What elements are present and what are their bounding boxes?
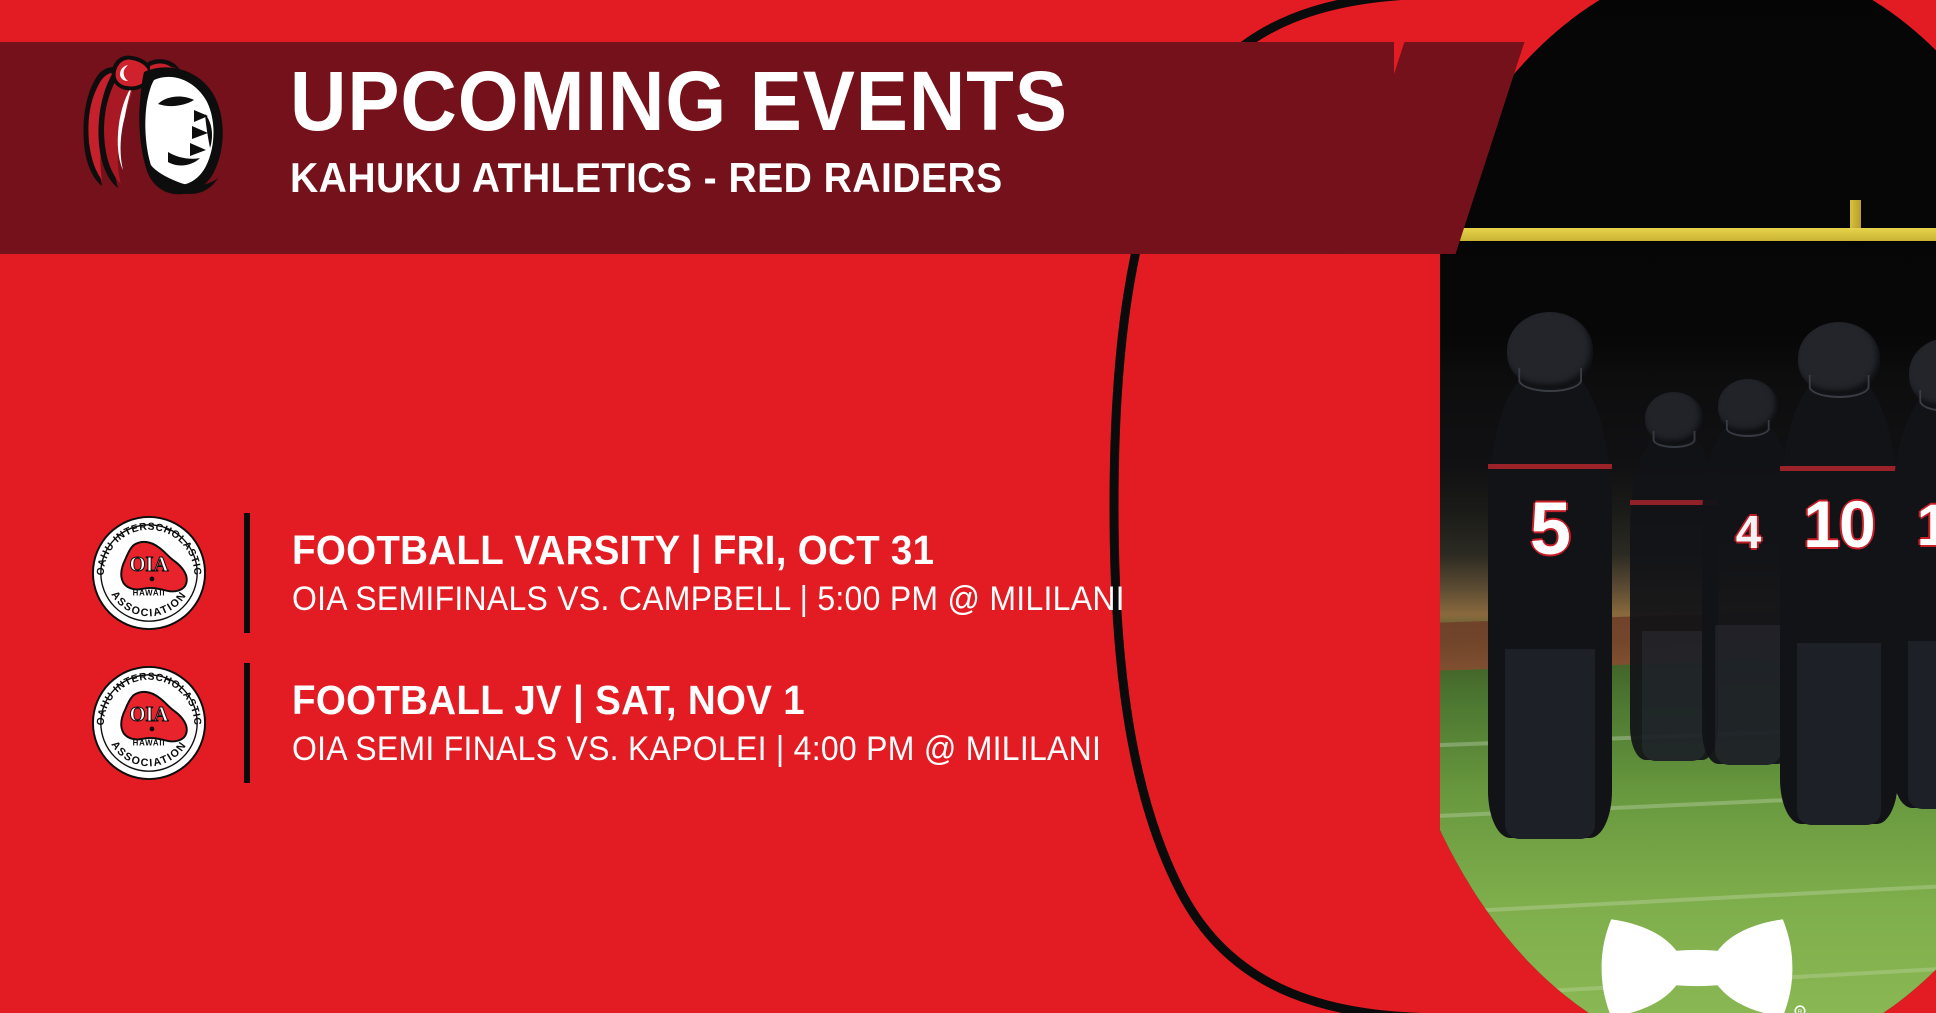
helmet-icon (1718, 379, 1778, 433)
oia-acronym: OIA (130, 554, 169, 576)
jersey-number: 5 (1530, 486, 1570, 571)
event-text-block: FOOTBALL JV | SAT, NOV 1 OIA SEMI FINALS… (292, 677, 1270, 769)
helmet-icon (1909, 338, 1936, 408)
helmet-icon (1645, 392, 1703, 444)
event-divider-bar (244, 663, 250, 783)
kahuku-red-raider-logo (62, 48, 242, 196)
event-title: FOOTBALL JV | SAT, NOV 1 (292, 677, 1211, 723)
jersey-number: 10 (1803, 486, 1874, 562)
header-text-block: UPCOMING EVENTS KAHUKU ATHLETICS - RED R… (290, 58, 1126, 202)
jersey-number: 12 (1917, 492, 1936, 559)
helmet-icon (1798, 322, 1880, 394)
page-subtitle: KAHUKU ATHLETICS - RED RAIDERS (290, 154, 1068, 202)
oia-island-label: HAWAII (133, 589, 166, 598)
oia-acronym: OIA (130, 704, 169, 726)
event-row[interactable]: OAHU INTERSCHOLASTIC ASSOCIATION OIA HAW… (90, 498, 1270, 648)
event-detail: OIA SEMIFINALS VS. CAMPBELL | 5:00 PM @ … (292, 579, 1211, 619)
upcoming-events-list: OAHU INTERSCHOLASTIC ASSOCIATION OIA HAW… (90, 498, 1270, 798)
oia-island-label: HAWAII (133, 739, 166, 748)
jersey-number: 4 (1736, 505, 1761, 559)
event-title: FOOTBALL VARSITY | FRI, OCT 31 (292, 527, 1211, 573)
oia-logo-icon: OAHU INTERSCHOLASTIC ASSOCIATION OIA HAW… (90, 664, 208, 782)
event-text-block: FOOTBALL VARSITY | FRI, OCT 31 OIA SEMIF… (292, 527, 1270, 619)
under-armour-logo: R (1582, 906, 1812, 1013)
player-number-10: 10 (1780, 374, 1898, 824)
page-title: UPCOMING EVENTS (290, 58, 1068, 144)
event-row[interactable]: OAHU INTERSCHOLASTIC ASSOCIATION OIA HAW… (90, 648, 1270, 798)
oia-logo-icon: OAHU INTERSCHOLASTIC ASSOCIATION OIA HAW… (90, 514, 208, 632)
event-detail: OIA SEMI FINALS VS. KAPOLEI | 4:00 PM @ … (292, 729, 1211, 769)
player-number-5: 5 (1488, 368, 1612, 838)
player-number-12: 12 (1892, 388, 1936, 808)
helmet-icon (1507, 312, 1593, 388)
graphic-canvas: 4 5 10 (0, 0, 1936, 1013)
event-divider-bar (244, 513, 250, 633)
svg-text:R: R (1798, 1009, 1803, 1013)
